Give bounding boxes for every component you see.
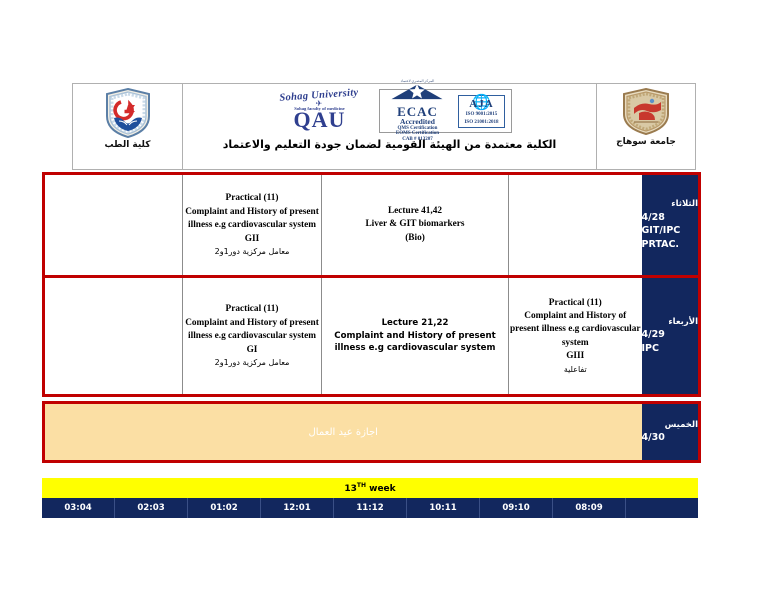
row2-cell-practical-giii: Practical (11) Complaint and History of … bbox=[509, 277, 642, 396]
time-slot-bar: 03:04 02:03 01:02 12:01 11:12 10:11 09:1… bbox=[42, 498, 698, 518]
row1-cell-empty bbox=[44, 174, 183, 277]
row1-cell-empty-2 bbox=[509, 174, 642, 277]
row2-cell-empty bbox=[44, 277, 183, 396]
day-label-wednesday: الأربعاء 4/29 IPC bbox=[642, 277, 700, 396]
day-wednesday-date: 4/29 bbox=[642, 328, 699, 342]
time-slot: 01:02 bbox=[188, 498, 261, 518]
university-logo-caption: جامعة سوهاج bbox=[616, 137, 676, 147]
holiday-banner: اجازة عيد العمال bbox=[44, 403, 642, 462]
row2-lecture-text: Lecture 21,22 Complaint and History of p… bbox=[322, 317, 508, 356]
row2-practical-giii-arabic: تفاعلية bbox=[509, 364, 642, 376]
table-row: اجازة عيد العمال الخميس 4/30 bbox=[44, 403, 700, 462]
week-number: 13 bbox=[344, 484, 357, 494]
faculty-of-medicine-logo-icon bbox=[105, 88, 151, 138]
ecac-accredited-text: Accredited bbox=[386, 118, 448, 126]
row2-cell-practical-gi: Practical (11) Complaint and History of … bbox=[183, 277, 322, 396]
sohag-university-logo-icon bbox=[621, 88, 671, 135]
time-slot: 02:03 bbox=[115, 498, 188, 518]
day-wednesday-code-1: IPC bbox=[642, 342, 699, 356]
day-label-tuesday: الثلاثاء 4/28 GIT/IPC PRTAC. bbox=[642, 174, 700, 277]
time-slot: 08:09 bbox=[553, 498, 626, 518]
day-wednesday-arabic: الأربعاء bbox=[642, 316, 699, 328]
institution-header: كلية الطب Sohag University ✈ Sohag facul… bbox=[72, 83, 696, 170]
time-slot: 09:10 bbox=[480, 498, 553, 518]
row2-practical-giii-text: Practical (11) Complaint and History of … bbox=[509, 297, 642, 364]
week-label: 13TH week bbox=[344, 482, 395, 494]
faculty-logo-cell: كلية الطب bbox=[73, 84, 183, 169]
aja-iso-1: ISO 9001:2015 bbox=[464, 112, 498, 118]
accreditation-cell: Sohag University ✈ Sohag faculty of medi… bbox=[183, 84, 597, 169]
week-suffix: TH bbox=[357, 482, 366, 489]
aja-iso-2: ISO 21001:2018 bbox=[464, 120, 498, 126]
aja-logo-icon: 🌐 AJA ISO 9001:2015 ISO 21001:2018 bbox=[458, 95, 504, 128]
row-gap bbox=[44, 396, 700, 403]
row1-cell-practical: Practical (11) Complaint and History of … bbox=[183, 174, 322, 277]
row1-cell-lecture: Lecture 41,42 Liver & GIT biomarkers (Bi… bbox=[322, 174, 509, 277]
row1-lecture-text: Lecture 41,42 Liver & GIT biomarkers (Bi… bbox=[322, 205, 508, 245]
time-slot-spacer bbox=[626, 498, 698, 518]
accreditation-logo-row: Sohag University ✈ Sohag faculty of medi… bbox=[183, 86, 596, 136]
day-tuesday-code-2: PRTAC. bbox=[642, 238, 699, 252]
row2-practical-arabic: معامل مركزية دور1و2 bbox=[183, 357, 321, 369]
time-slot: 11:12 bbox=[334, 498, 407, 518]
holiday-text: اجازة عيد العمال bbox=[309, 427, 378, 438]
row2-cell-lecture: Lecture 21,22 Complaint and History of p… bbox=[322, 277, 509, 396]
time-slot: 12:01 bbox=[261, 498, 334, 518]
airplane-icon: ✈ bbox=[315, 100, 322, 108]
time-slot: 10:11 bbox=[407, 498, 480, 518]
certification-box: المركز المصري لاعتماد ECAC Accredited QM… bbox=[379, 89, 511, 133]
day-thursday-date: 4/30 bbox=[642, 431, 699, 445]
week-word: week bbox=[369, 484, 396, 494]
week-banner: 13TH week bbox=[42, 478, 698, 498]
day-tuesday-date: 4/28 bbox=[642, 211, 699, 225]
accreditation-statement: الكلية معتمدة من الهيئة القومية لضمان جو… bbox=[219, 138, 561, 153]
table-row: Practical (11) Complaint and History of … bbox=[44, 174, 700, 277]
faculty-logo-caption: كلية الطب bbox=[105, 140, 151, 150]
weekly-schedule-table: Practical (11) Complaint and History of … bbox=[42, 172, 701, 463]
day-tuesday-arabic: الثلاثاء bbox=[642, 198, 699, 210]
day-label-thursday: الخميس 4/30 bbox=[642, 403, 700, 462]
row1-practical-text: Practical (11) Complaint and History of … bbox=[183, 192, 321, 246]
qau-logo-icon: Sohag University ✈ Sohag faculty of medi… bbox=[267, 91, 371, 131]
qau-acronym: QAU bbox=[267, 110, 371, 131]
table-row: Practical (11) Complaint and History of … bbox=[44, 277, 700, 396]
ecac-logo-icon: المركز المصري لاعتماد ECAC Accredited QM… bbox=[386, 80, 448, 143]
day-thursday-arabic: الخميس bbox=[642, 419, 699, 431]
ecac-star-mark-icon bbox=[386, 83, 448, 100]
aja-mark-text: AJA bbox=[464, 99, 498, 110]
time-slot: 03:04 bbox=[42, 498, 115, 518]
university-logo-cell: جامعة سوهاج bbox=[597, 84, 695, 169]
day-tuesday-code-1: GIT/IPC bbox=[642, 224, 699, 238]
row1-practical-arabic: معامل مركزية دور1و2 bbox=[183, 246, 321, 258]
row2-practical-text: Practical (11) Complaint and History of … bbox=[183, 303, 321, 357]
